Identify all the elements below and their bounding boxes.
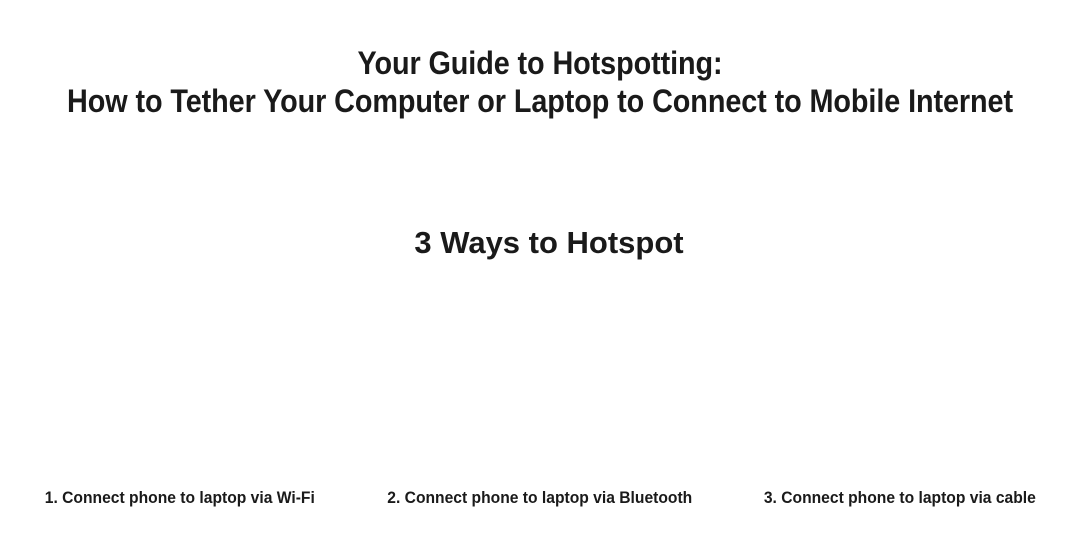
infographic-page: Your Guide to Hotspotting: How to Tether… bbox=[0, 0, 1080, 552]
method-item-wifi: 1. Connect phone to laptop via Wi-Fi bbox=[0, 487, 360, 509]
illustration-slot-cable bbox=[720, 286, 1080, 476]
page-title-line-1: Your Guide to Hotspotting: bbox=[54, 44, 1026, 82]
section-heading-label: 3 Ways to Hotspot bbox=[414, 224, 683, 262]
illustration-slot-wifi bbox=[0, 286, 360, 476]
method-caption-cable: 3. Connect phone to laptop via cable bbox=[764, 487, 1036, 509]
method-item-bluetooth: 2. Connect phone to laptop via Bluetooth bbox=[360, 487, 720, 509]
page-title-line-2: How to Tether Your Computer or Laptop to… bbox=[54, 82, 1026, 120]
page-title: Your Guide to Hotspotting: How to Tether… bbox=[0, 44, 1080, 120]
illustration-band bbox=[0, 286, 1080, 476]
method-item-cable: 3. Connect phone to laptop via cable bbox=[720, 487, 1080, 509]
method-caption-bluetooth: 2. Connect phone to laptop via Bluetooth bbox=[388, 487, 693, 509]
method-caption-wifi: 1. Connect phone to laptop via Wi-Fi bbox=[45, 487, 315, 509]
method-caption-row: 1. Connect phone to laptop via Wi-Fi 2. … bbox=[0, 487, 1080, 509]
illustration-slot-bluetooth bbox=[360, 286, 720, 476]
section-heading: 3 Ways to Hotspot bbox=[0, 224, 1080, 262]
